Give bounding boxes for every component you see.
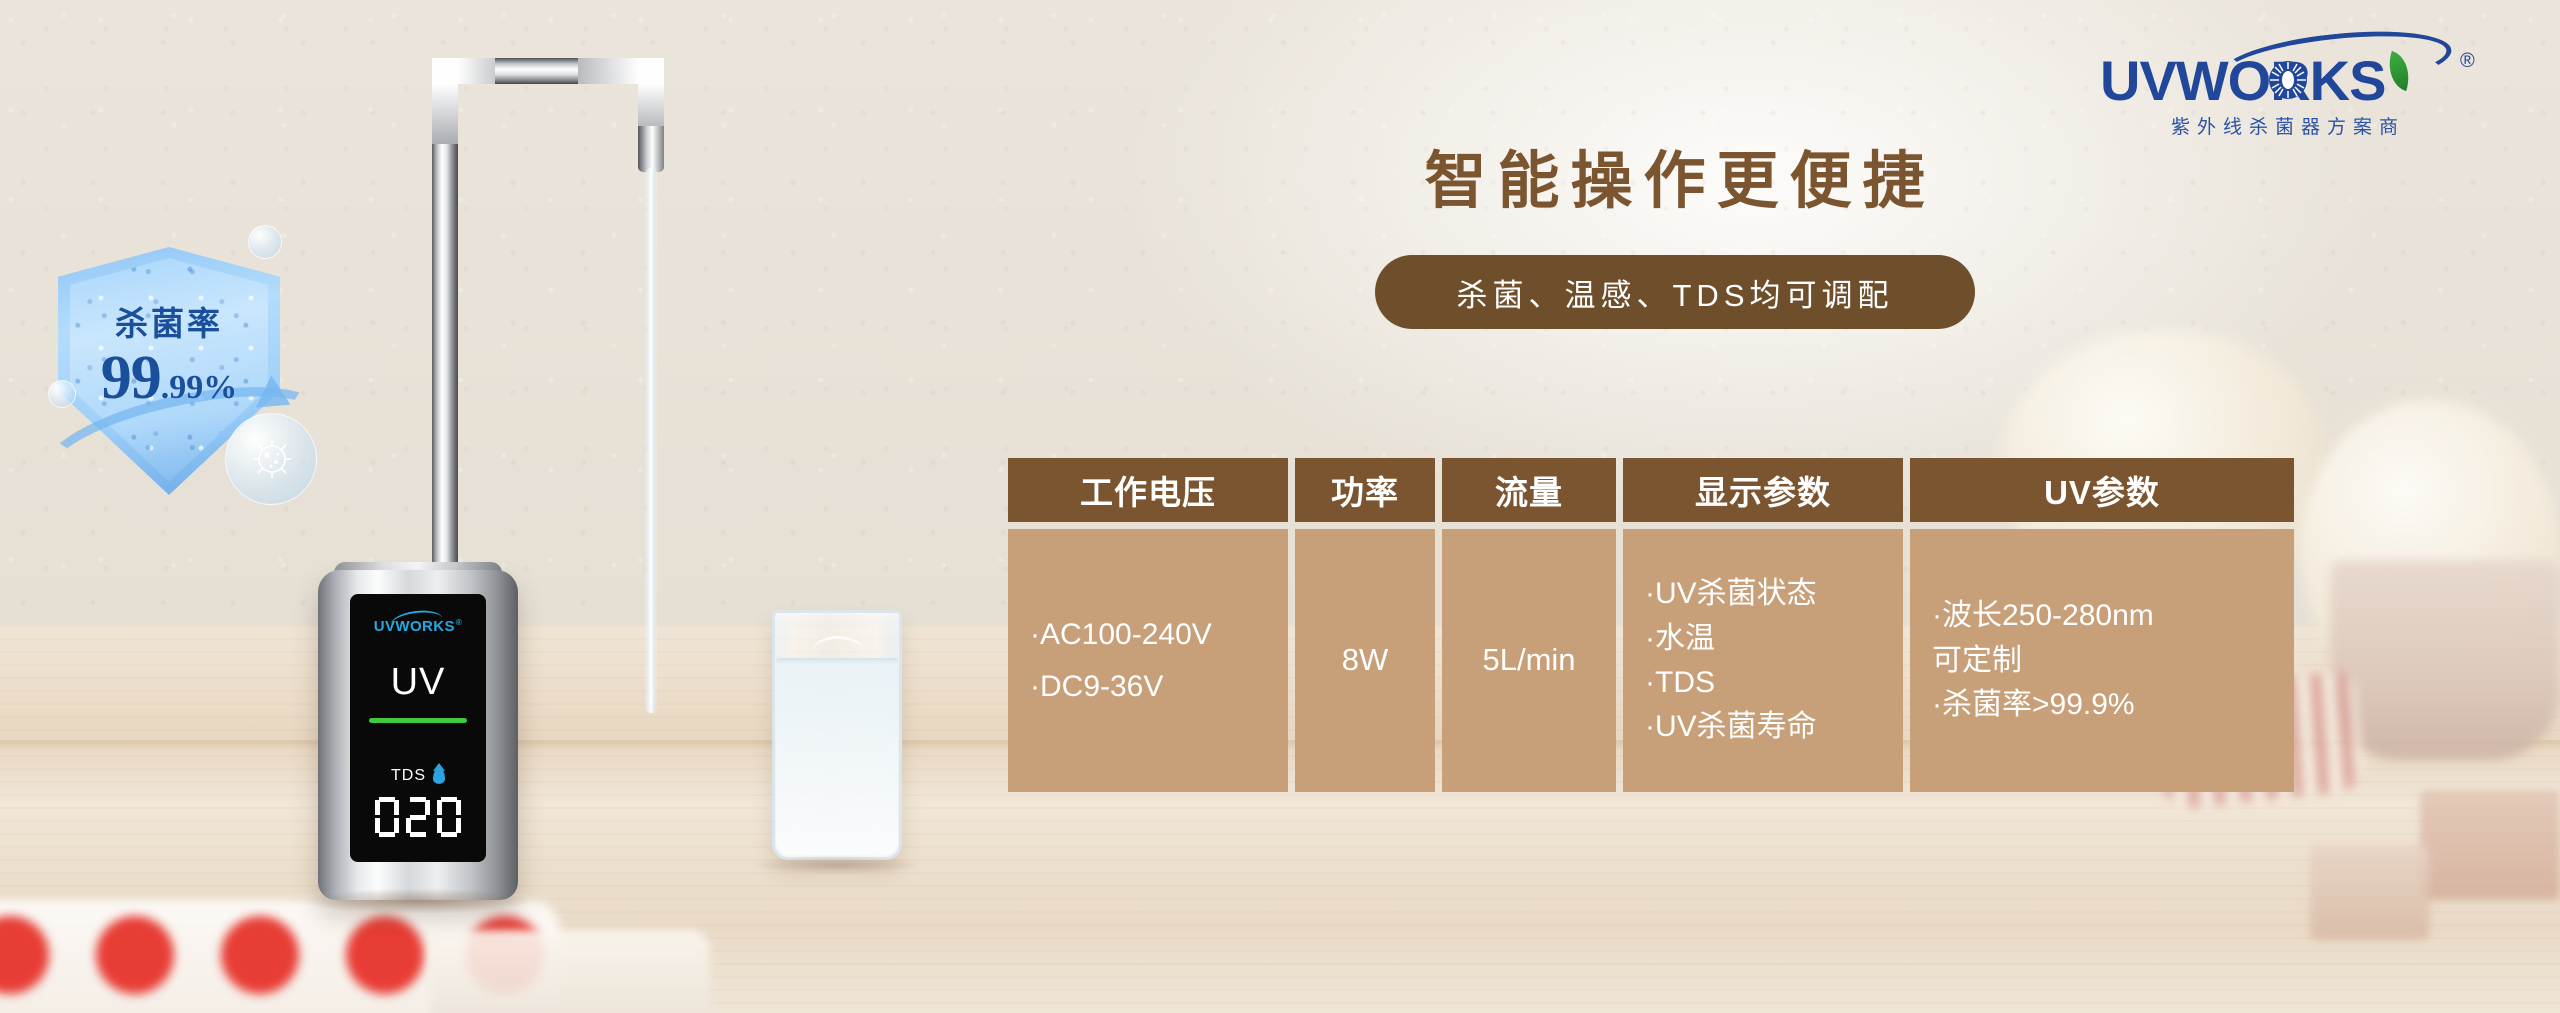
- water-glass: [772, 610, 902, 860]
- glass-water-fill: [776, 662, 898, 855]
- seven-segment-digit: [406, 797, 430, 837]
- glass-shadow: [754, 856, 920, 874]
- bowl-prop: [430, 930, 710, 1013]
- spec-cell: 5L/min: [1442, 529, 1616, 792]
- spec-column-uv-params: UV参数 ·波长250-280nm 可定制 ·杀菌率>99.9%: [1910, 458, 2294, 792]
- uv-sterilizer-device: UVWORKS ® UV TDS: [318, 570, 518, 900]
- spec-line: 8W: [1342, 642, 1389, 679]
- badge-value-minor: .99%: [161, 369, 238, 406]
- wood-block-prop: [2420, 790, 2560, 900]
- spec-header: 功率: [1295, 458, 1435, 522]
- badge-label: 杀菌率: [58, 297, 280, 345]
- spec-line: ·TDS: [1645, 665, 1881, 700]
- spec-table: 工作电压 ·AC100-240V ·DC9-36V 功率 8W 流量 5L/mi…: [1008, 458, 2300, 792]
- bubble-icon: [48, 380, 76, 408]
- faucet-spout: [638, 126, 664, 172]
- woven-basket-prop: [2330, 560, 2560, 760]
- spec-line: ·水温: [1645, 621, 1881, 656]
- device-screen-logo: UVWORKS ®: [374, 618, 462, 635]
- spec-cell: ·波长250-280nm 可定制 ·杀菌率>99.9%: [1910, 529, 2294, 792]
- device-mode-label: UV: [391, 661, 446, 704]
- water-splash: [812, 636, 864, 668]
- device-screen-logo-reg: ®: [456, 618, 462, 627]
- spec-line: ·杀菌率>99.9%: [1932, 687, 2272, 722]
- spec-line: 可定制: [1932, 643, 2272, 678]
- spec-column-power: 功率 8W: [1295, 458, 1435, 792]
- feature-pill: 杀菌、温感、TDS均可调配: [1375, 255, 1975, 329]
- device-display-screen: UVWORKS ® UV TDS: [350, 594, 486, 862]
- device-tds-row: TDS: [391, 767, 445, 785]
- seven-segment-digit: [375, 797, 399, 837]
- spec-column-display-params: 显示参数 ·UV杀菌状态 ·水温 ·TDS ·UV杀菌寿命: [1623, 458, 1903, 792]
- spec-line: ·AC100-240V: [1030, 617, 1266, 652]
- spec-column-flow-rate: 流量 5L/min: [1442, 458, 1616, 792]
- device-tds-label: TDS: [391, 767, 426, 785]
- logo-mark: UVWORKS: [2090, 30, 2500, 106]
- badge-value-major: 99: [101, 344, 161, 412]
- spec-line: ·UV杀菌状态: [1645, 576, 1881, 611]
- registered-mark: ®: [2460, 50, 2475, 73]
- spec-header: 流量: [1442, 458, 1616, 522]
- bubble-icon: [248, 225, 282, 259]
- spec-header: 工作电压: [1008, 458, 1288, 522]
- water-stream: [645, 168, 657, 713]
- spec-column-working-voltage: 工作电压 ·AC100-240V ·DC9-36V: [1008, 458, 1288, 792]
- faucet-vertical-pipe: [432, 100, 458, 640]
- spec-header: UV参数: [1910, 458, 2294, 522]
- device-shadow: [302, 888, 534, 914]
- spec-cell: ·UV杀菌状态 ·水温 ·TDS ·UV杀菌寿命: [1623, 529, 1903, 792]
- sterilization-rate-badge: 杀菌率 99.99%: [30, 225, 340, 515]
- badge-value: 99.99%: [58, 343, 280, 414]
- brand-tagline: 紫外线杀菌器方案商: [2104, 112, 2472, 139]
- spec-line: 5L/min: [1482, 642, 1575, 679]
- water-drop-icon: [433, 768, 445, 784]
- spec-header: 显示参数: [1623, 458, 1903, 522]
- device-tds-value: [375, 797, 461, 837]
- device-status-bar: [369, 718, 467, 723]
- germ-icon: [248, 435, 296, 483]
- banner-stage: UVWORKS ® UV TDS: [0, 0, 2560, 1013]
- seven-segment-digit: [437, 797, 461, 837]
- spec-line: ·波长250-280nm: [1932, 598, 2272, 633]
- spec-cell: ·AC100-240V ·DC9-36V: [1008, 529, 1288, 792]
- spec-cell: 8W: [1295, 529, 1435, 792]
- spec-line: ·DC9-36V: [1030, 669, 1266, 704]
- page-title: 智能操作更便捷: [1370, 130, 1990, 220]
- wood-block-prop-2: [2310, 845, 2430, 940]
- logo-wordmark: UVWORKS: [2100, 48, 2385, 113]
- brand-logo: UVWORKS: [2090, 30, 2500, 145]
- sunburst-icon: [2268, 60, 2308, 100]
- spec-line: ·UV杀菌寿命: [1645, 709, 1881, 744]
